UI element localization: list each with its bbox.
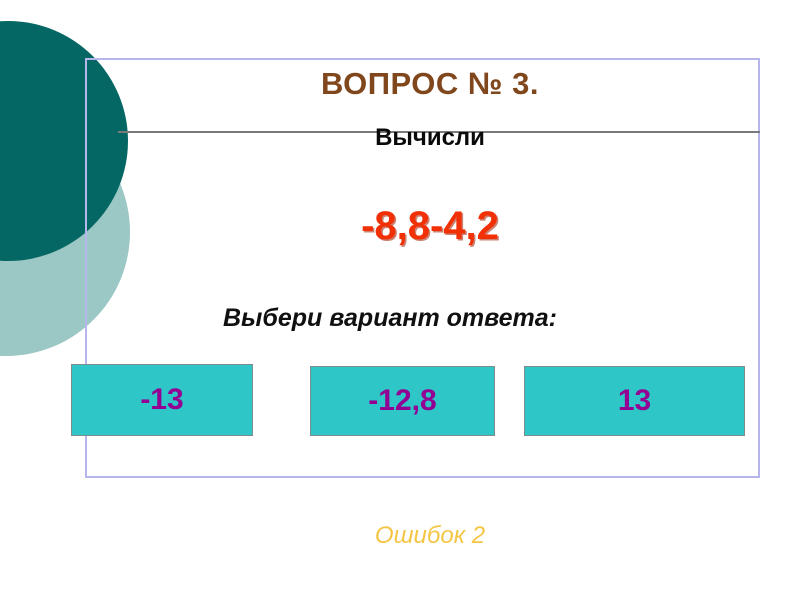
answer-option-button[interactable]: -13: [71, 364, 253, 436]
question-title: ВОПРОС № 3.: [150, 66, 710, 102]
instruction-label: Вычисли: [150, 124, 710, 152]
answer-option-button[interactable]: -12,8: [310, 366, 495, 436]
answer-option-button[interactable]: 13: [524, 366, 745, 436]
quiz-slide: ВОПРОС № 3. Вычисли -8,8-4,2 Выбери вари…: [0, 0, 800, 600]
choose-answer-prompt: Выбери вариант ответа:: [110, 304, 670, 333]
math-expression: -8,8-4,2: [150, 204, 710, 249]
error-counter-status: Ошибок 2: [150, 522, 710, 550]
